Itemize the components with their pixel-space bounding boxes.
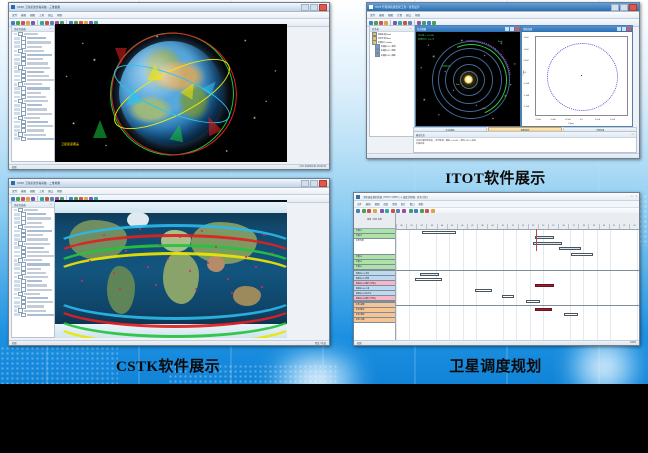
tree-indent (14, 255, 20, 258)
menu-item-file[interactable]: 文件 (12, 189, 17, 193)
sched-menu-item-1[interactable]: 文件 (357, 202, 362, 206)
sched-menu-item-8[interactable]: 帮助 (418, 202, 423, 206)
tree-item-label (24, 226, 44, 228)
toolbar-button-6[interactable] (40, 21, 44, 25)
sched-window-buttons[interactable]: - □ × (627, 195, 637, 198)
tree-item-label (27, 284, 47, 286)
orbit-panel-buttons[interactable] (504, 27, 519, 32)
menu-item-edit[interactable]: 编辑 (379, 13, 384, 17)
sched-menu-item-3[interactable]: 视图 (375, 202, 380, 206)
sched-row-label-text: 任务列表 (356, 239, 364, 242)
itot-menubar[interactable]: 文件 编辑 视图 计算 窗口 帮助 (367, 12, 639, 19)
tree-item-label (24, 243, 50, 245)
tree-item-label (27, 108, 47, 110)
tree-indent (14, 209, 17, 212)
plot-ytick: 0.5e8 (524, 60, 529, 62)
toolbar-button-6[interactable] (40, 197, 44, 201)
tree-indent (14, 108, 20, 111)
tree-indent (14, 41, 20, 44)
tree-item-label (27, 121, 48, 123)
gantt-bar[interactable] (420, 273, 439, 276)
tree-indent (14, 276, 17, 279)
sched-status-left: 就绪 (357, 341, 362, 345)
gantt-bar[interactable] (535, 308, 552, 311)
tree-indent (14, 37, 20, 40)
toolbar-button-5[interactable] (31, 21, 35, 25)
plot-axes-box (535, 36, 628, 116)
tree-item-label (27, 54, 52, 56)
plot-panel-buttons[interactable] (616, 27, 631, 32)
orbit-viewport[interactable]: 日心距 = 1.52 AU 转移时间 : 259 天 Sun Earth Mar… (416, 32, 520, 126)
maximize-icon (622, 27, 626, 31)
itot-statusbar (367, 153, 639, 158)
tree-indent (14, 121, 20, 124)
tree-expander-icon[interactable] (21, 313, 26, 318)
app-icon (11, 181, 15, 185)
plot-ytick: 1.0e8 (524, 49, 529, 51)
ground-track-yellow-2 (55, 294, 287, 338)
cstk-2d-window[interactable]: CSTK 卫星星座仿真系统 - 二维地图 文件 编辑 视图 工具 窗口 帮助 场… (8, 178, 330, 346)
tree-item-label (27, 247, 44, 249)
slide-footer-black (0, 384, 648, 453)
menu-item-view[interactable]: 视图 (30, 13, 35, 17)
tree-indent (14, 66, 17, 69)
itot-tree-item-label: 轨道段 02 - 巡航 (381, 49, 396, 52)
label-transfer-orbit: 转移轨道 (442, 65, 450, 68)
gantt-current-time-line (536, 229, 537, 251)
sched-row-label-text: 地面站 04-三亚 (356, 287, 370, 290)
close-icon (319, 180, 327, 187)
tree-item-label (24, 100, 48, 102)
tree-indent (14, 217, 20, 220)
globe-statusbar: 就绪 UTC 2020/01/01 00:00:00 (9, 164, 329, 169)
menu-item-compute[interactable]: 计算 (397, 13, 402, 17)
maximize-icon[interactable]: □ (631, 195, 633, 198)
menu-item-edit[interactable]: 编辑 (21, 189, 26, 193)
tree-item-label (27, 104, 42, 106)
tree-indent (14, 284, 20, 287)
plot-panel-title: 参数曲线 (523, 27, 532, 31)
plot-xtick: 0.0 (580, 119, 583, 121)
sched-row-label-text: 卫星02 (356, 234, 362, 237)
tree-item-label (27, 238, 48, 240)
itot-window-buttons[interactable] (611, 4, 637, 11)
tree-item-label (24, 117, 40, 119)
menu-item-help[interactable]: 帮助 (57, 13, 62, 17)
toolbar-button-8[interactable] (50, 21, 54, 25)
sched-statusbar: 就绪 100% (354, 340, 639, 345)
sched-status-right: 100% (630, 342, 636, 344)
tree-indent (14, 91, 20, 94)
orbit-annotation-1: 日心距 = 1.52 AU (418, 34, 434, 37)
log-pin-icon[interactable]: ▫ ✕ (631, 133, 634, 136)
tree-indent (14, 288, 20, 291)
tree-node-icon (375, 53, 380, 58)
gantt-bar[interactable] (526, 300, 540, 303)
arctic-ice (55, 202, 287, 213)
itot-tree-item-label: 转移段 Transfer (378, 41, 392, 44)
tree-pin-icon[interactable]: ▫ ✕ (49, 203, 52, 206)
itot-tree-item[interactable]: 轨道段 03 - 捕获 (370, 53, 414, 57)
toolbar-button-7[interactable] (45, 197, 49, 201)
menu-item-file[interactable]: 文件 (370, 13, 375, 17)
map-status-right: 经度 / 纬度 (315, 341, 326, 345)
sched-row-label-text: 任务-测控 (356, 313, 365, 316)
label-sun: Sun (456, 84, 460, 86)
sched-row-label-text: 卫星05 (356, 265, 362, 268)
tree-indent (14, 280, 20, 283)
sched-row-label-text: 卫星04 (356, 260, 362, 263)
tree-item-label (27, 92, 41, 94)
globe-tree-panel[interactable]: 场景浏览器 ▫ ✕ (11, 25, 55, 162)
gantt-bar[interactable] (571, 253, 593, 256)
toolbar-button-12[interactable] (432, 21, 436, 25)
tree-item-label (24, 83, 42, 85)
tree-item-label (27, 263, 50, 265)
sched-row-label-text: 任务-数传 (356, 308, 365, 311)
itot-tree-list[interactable]: 初始轨道 Earth目标天体 Mars转移段 Transfer轨道段 01 - … (370, 32, 414, 57)
tree-indent (14, 221, 20, 224)
sched-titlebar[interactable]: 卫星调度规划系统 ( ITOT / CSTK ) - [ 调度甘特图 - 任务计… (354, 193, 639, 201)
menu-item-window[interactable]: 窗口 (48, 189, 53, 193)
gantt-bar[interactable] (564, 313, 578, 316)
plot-ylabel: Y (km) (523, 70, 525, 76)
tree-item-label (27, 230, 52, 232)
tree-indent (14, 305, 20, 308)
toolbar-button-4[interactable] (26, 197, 30, 201)
menu-item-view[interactable]: 视图 (30, 189, 35, 193)
sensor-cone-green-1 (93, 120, 107, 138)
minimize-icon[interactable]: - (627, 195, 628, 198)
tree-indent (14, 301, 20, 304)
menu-item-file[interactable]: 文件 (12, 13, 17, 17)
tree-item-label (27, 96, 46, 98)
map-status-left: 就绪 (12, 341, 17, 345)
tree-indent (14, 251, 20, 254)
minimize-icon (611, 4, 619, 11)
log-header-label: 输出信息 (416, 133, 425, 137)
tree-item-label (24, 50, 44, 52)
sched-menu-item-6[interactable]: 统计 (401, 202, 406, 206)
orbit-annotation-2: 转移时间 : 259 天 (418, 38, 434, 41)
map-tree-list[interactable] (12, 208, 54, 317)
tree-indent (14, 230, 20, 233)
tree-item-label (27, 305, 44, 307)
plot-center-point (581, 75, 582, 76)
map-title: CSTK 卫星星座仿真系统 - 二维地图 (17, 181, 299, 185)
tree-indent (14, 112, 20, 115)
tree-pin-icon[interactable]: ▫ ✕ (409, 27, 412, 30)
toolbar-button-2[interactable] (16, 197, 20, 201)
tree-item-label (27, 222, 42, 224)
gantt-bar[interactable] (415, 278, 441, 281)
map-tree-panel[interactable]: 场景浏览器 ▫ ✕ (11, 201, 55, 338)
sched-gridlines (396, 229, 639, 341)
map-menubar[interactable]: 文件 编辑 视图 工具 窗口 帮助 (9, 188, 329, 195)
gantt-bar[interactable] (475, 289, 492, 292)
sched-row-label-text: 地面站 03-喀什(天线1) (356, 282, 377, 285)
tree-indent (14, 133, 17, 136)
tree-item-label (27, 301, 53, 303)
toolbar-button-3[interactable] (21, 21, 25, 25)
tree-indent (14, 117, 17, 120)
tree-indent (14, 83, 17, 86)
label-mars: Mars (482, 108, 486, 110)
app-icon (11, 5, 15, 9)
plot-curve-ellipse (547, 43, 618, 111)
toolbar-button-3[interactable] (379, 21, 383, 25)
tree-item-label (24, 67, 50, 69)
menu-item-edit[interactable]: 编辑 (21, 13, 26, 17)
plot-ytick: -1.0e8 (524, 95, 530, 97)
globe-status-right: UTC 2020/01/01 00:00:00 (300, 166, 326, 168)
tree-item-label (27, 37, 46, 39)
plot-ytick: 1.5e8 (524, 37, 529, 39)
menu-item-help[interactable]: 帮助 (415, 13, 420, 17)
sched-gantt-canvas[interactable] (396, 229, 639, 341)
tree-item-label (27, 213, 46, 215)
tree-indent (14, 125, 20, 128)
toolbar-button-8[interactable] (50, 197, 54, 201)
tree-indent (14, 100, 17, 103)
plot-xtick: -1.0e8 (550, 119, 556, 121)
sched-row-label-text: 任务-中继 (356, 318, 365, 321)
tree-item-label (27, 234, 43, 236)
tree-indent (14, 238, 20, 241)
gantt-bar[interactable] (535, 284, 554, 287)
scene-overlay-label: 卫星星座覆盖 (61, 142, 79, 146)
globe-menubar[interactable]: 文件 编辑 视图 工具 窗口 帮助 (9, 12, 329, 19)
sched-title: 卫星调度规划系统 ( ITOT / CSTK ) - [ 调度甘特图 - 任务计… (363, 195, 428, 199)
toolbar-button-5[interactable] (31, 197, 35, 201)
tree-indent (14, 50, 17, 53)
sched-menu-item-5[interactable]: 资源 (392, 202, 397, 206)
sched-row-label-text: 任务-成像 (356, 303, 365, 306)
toolbar-button-3[interactable] (21, 197, 25, 201)
tree-item[interactable] (12, 137, 54, 141)
sched-row-label-text: 地面站 01-北京 (356, 272, 370, 275)
toolbar-button-6[interactable] (398, 21, 402, 25)
minimize-icon (301, 180, 309, 187)
toolbar-button-5[interactable] (393, 21, 397, 25)
toolbar-button-4[interactable] (26, 21, 30, 25)
minimize-icon (301, 4, 309, 11)
sched-label-rows[interactable]: 卫星01卫星02任务列表卫星03卫星04卫星05地面站 01-北京地面站 02-… (354, 229, 395, 323)
itot-orbit-panel[interactable]: 轨道视图 日心距 = 1.52 AU 转移时间 : 259 天 Sun Eart… (415, 25, 521, 127)
sched-column-header: 资源 / 任务 名称 (354, 213, 395, 229)
plot-xtick: 1.0e8 (610, 119, 615, 121)
sched-row-label-text: 地面站 05-牡丹江 (356, 292, 372, 295)
caption-sched: 卫星调度规划 (353, 355, 638, 376)
sun-marker (464, 75, 473, 84)
itot-tree-item-label: 初始轨道 Earth (378, 33, 392, 36)
sched-row-label-text: 卫星03 (356, 255, 362, 258)
sched-row-label-text: 卫星01 (356, 229, 362, 232)
tree-item-label (27, 255, 54, 257)
tree-indent (14, 87, 20, 90)
maximize-icon (310, 180, 318, 187)
globe-status-left: 就绪 (12, 165, 17, 169)
tree-item-label (27, 46, 42, 48)
gantt-bar[interactable] (422, 231, 456, 234)
toolbar-button-1[interactable] (11, 197, 15, 201)
tree-indent (14, 242, 17, 245)
tree-item-label (24, 310, 46, 312)
tree-item-label (27, 297, 48, 299)
menu-item-view[interactable]: 视图 (388, 13, 393, 17)
plot-xlabel: X (km) (568, 123, 574, 125)
close-icon (319, 4, 327, 11)
tree-item-label (27, 129, 44, 131)
sched-row-label[interactable]: 任务-中继 (354, 318, 395, 323)
toolbar-button-8[interactable] (408, 21, 412, 25)
toolbar-button-10[interactable] (422, 21, 426, 25)
itot-window[interactable]: ITOT 行星际轨道优化工具 - 任务设计 文件 编辑 视图 计算 窗口 帮助 … (366, 2, 640, 159)
gantt-bar[interactable] (502, 295, 514, 298)
menu-item-tools[interactable]: 工具 (39, 13, 44, 17)
tree-indent (14, 70, 20, 73)
tree-indent (14, 226, 17, 229)
sched-column-header-label: 资源 / 任务 名称 (367, 219, 382, 221)
tree-item-label (27, 62, 48, 64)
map-statusbar: 就绪 经度 / 纬度 (9, 340, 329, 345)
plot-ytick: -1.5e8 (524, 106, 530, 108)
close-icon (515, 27, 519, 31)
toolbar-button-9[interactable] (417, 21, 421, 25)
tree-indent (14, 272, 20, 275)
tree-item-label (27, 71, 44, 73)
tree-item-label (27, 217, 51, 219)
sched-menu-item-4[interactable]: 调度 (383, 202, 388, 206)
sched-body: 资源 / 任务 名称 卫星01卫星02任务列表卫星03卫星04卫星05地面站 0… (354, 213, 639, 341)
toolbar-button-1[interactable] (11, 21, 15, 25)
cstk-3d-window[interactable]: CSTK 卫星星座仿真系统 - 三维视图 文件 编辑 视图 工具 窗口 帮助 场… (8, 2, 330, 170)
sched-row-label-column[interactable]: 资源 / 任务 名称 卫星01卫星02任务列表卫星03卫星04卫星05地面站 0… (354, 213, 396, 341)
tree-item-label (27, 268, 41, 270)
itot-titlebar[interactable]: ITOT 行星际轨道优化工具 - 任务设计 (367, 3, 639, 12)
itot-log-panel[interactable]: 输出信息 ▫ ✕ 正在计算转移轨道 ... 迭代收敛，偏差 < 1e-06 ..… (413, 131, 637, 153)
plot-xtick: -1.5e8 (535, 119, 541, 121)
toolbar-button-11[interactable] (427, 21, 431, 25)
tree-indent (14, 54, 20, 57)
tree-item-label (27, 289, 52, 291)
itot-plot-panel[interactable]: 参数曲线 1.5e81.0e80.5e80.0-0.5e8-1.0e8-1.5e… (521, 25, 633, 127)
itot-tree-item-label: 轨道段 01 - 发射 (381, 45, 396, 48)
tree-item-label (24, 276, 48, 278)
globe-titlebar[interactable]: CSTK 卫星星座仿真系统 - 三维视图 (9, 3, 329, 12)
menu-item-window[interactable]: 窗口 (406, 13, 411, 17)
tree-item-label (27, 272, 46, 274)
tree-indent (14, 309, 17, 312)
plot-xtick: -0.5e8 (565, 119, 571, 121)
globe-window-buttons[interactable] (301, 4, 327, 11)
tree-item-label (27, 87, 50, 89)
close-icon[interactable]: × (635, 195, 637, 198)
globe-title: CSTK 卫星星座仿真系统 - 三维视图 (17, 5, 299, 9)
tree-indent (14, 259, 17, 262)
group-divider-2 (396, 305, 639, 306)
tree-item-label (27, 41, 51, 43)
tree-indent (14, 104, 20, 107)
orbit-panel-title: 轨道视图 (417, 27, 426, 31)
gantt-bar[interactable] (559, 247, 581, 250)
itot-tree-item-label: 轨道段 03 - 捕获 (381, 54, 396, 57)
tree-pin-icon[interactable]: ▫ ✕ (49, 27, 52, 30)
presentation-slide: CSTK 卫星星座仿真系统 - 三维视图 文件 编辑 视图 工具 窗口 帮助 场… (0, 0, 648, 453)
tree-item-label (27, 138, 54, 140)
tree-indent (14, 267, 20, 270)
plot-ytick: -0.5e8 (524, 83, 530, 85)
tree-indent (14, 33, 17, 36)
tree-item-label (24, 209, 38, 211)
maximize-icon (620, 4, 628, 11)
sched-menu-item-2[interactable]: 编辑 (366, 202, 371, 206)
itot-tree-panel[interactable]: 任务树 ▫ ✕ 初始轨道 Earth目标天体 Mars转移段 Transfer轨… (369, 25, 415, 137)
sched-menubar[interactable]: 文件编辑视图调度资源统计窗口帮助 (354, 201, 639, 208)
tree-indent (14, 45, 20, 48)
sensor-cone-red-2 (115, 48, 127, 64)
gantt-bar[interactable] (535, 236, 554, 239)
toolbar-button-4[interactable] (384, 21, 388, 25)
toolbar-button-2[interactable] (374, 21, 378, 25)
tree-indent (14, 75, 20, 78)
tree-indent (14, 129, 20, 132)
plot-viewport[interactable]: 1.5e81.0e80.5e80.0-0.5e8-1.0e8-1.5e8 -1.… (522, 32, 632, 126)
menu-item-window[interactable]: 窗口 (48, 13, 53, 17)
sched-row-label-text: 地面站 06-喀什(天线2) (356, 297, 377, 300)
plot-xtick: 0.5e8 (595, 119, 600, 121)
tree-item-label (27, 314, 54, 316)
maximize-icon (510, 27, 514, 31)
toolbar-button-2[interactable] (16, 21, 20, 25)
toolbar-button-1[interactable] (369, 21, 373, 25)
tree-indent (14, 62, 20, 65)
label-earth: Earth (498, 41, 503, 43)
map-viewport[interactable] (55, 200, 287, 338)
menu-item-tools[interactable]: 工具 (39, 189, 44, 193)
sched-menu-item-7[interactable]: 窗口 (410, 202, 415, 206)
app-icon (369, 5, 373, 9)
tree-indent (14, 313, 20, 316)
toolbar-button-7[interactable] (403, 21, 407, 25)
sched-row-label-text: 地面站 02-西安 (356, 277, 370, 280)
tree-item-label (24, 33, 38, 35)
close-icon (627, 27, 631, 31)
globe-tree-list[interactable] (12, 32, 54, 141)
caption-itot: ITOT软件展示 (353, 167, 638, 188)
tree-item-label (27, 280, 42, 282)
tree-item-label (27, 79, 54, 81)
globe-viewport[interactable]: 卫星星座覆盖 (55, 24, 287, 162)
menu-item-help[interactable]: 帮助 (57, 189, 62, 193)
tree-item[interactable] (12, 313, 54, 317)
sched-row-label[interactable]: 任务列表 (354, 239, 395, 255)
gantt-bar[interactable] (533, 242, 562, 245)
itot-tree-header-label: 任务树 (372, 27, 379, 31)
tree-item-label (27, 125, 53, 127)
tree-indent (14, 137, 20, 140)
sensor-cone-cyan-1 (124, 87, 143, 106)
sensor-cone-yellow-1 (147, 64, 163, 80)
scheduling-window[interactable]: 卫星调度规划系统 ( ITOT / CSTK ) - [ 调度甘特图 - 任务计… (353, 192, 640, 346)
map-window-buttons[interactable] (301, 180, 327, 187)
minimize-icon (617, 27, 621, 31)
toolbar-button-7[interactable] (45, 21, 49, 25)
tree-expander-icon[interactable] (21, 137, 26, 142)
sched-gantt-area[interactable]: 0001020304050607080910111213141516171819… (396, 213, 639, 341)
map-titlebar[interactable]: CSTK 卫星星座仿真系统 - 二维地图 (9, 179, 329, 188)
tree-indent (14, 293, 17, 296)
